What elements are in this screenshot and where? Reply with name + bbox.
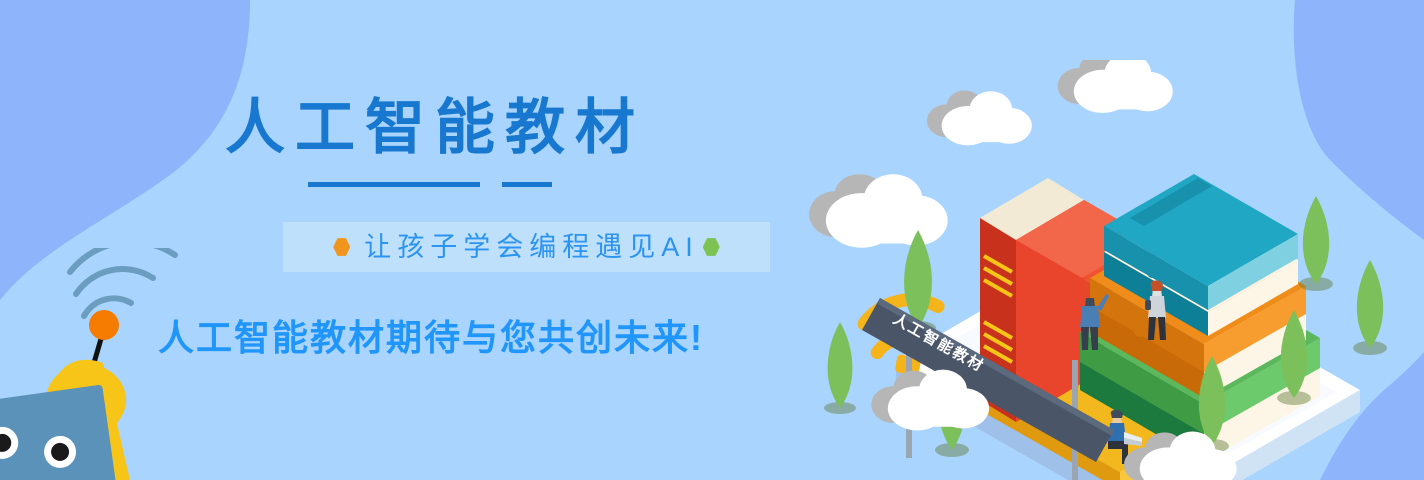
robot-antenna-ball-icon [89,310,119,340]
subtitle-band: 让孩子学会编程遇见AI [283,222,770,272]
subtitle-text: 让孩子学会编程遇见AI [358,234,699,261]
cloud-top-left-icon [809,174,948,248]
robot-mascot [0,248,190,480]
orange-book-dot [1132,311,1148,337]
divider-short-bar [502,182,552,187]
page-title: 人工智能教材 [0,98,860,158]
tree-right-lower [1353,260,1387,355]
tree-right-upper [1299,196,1333,291]
ai-textbook-banner: 人工智能教材 让孩子学会编程遇见AI 人工智能教材期待与您共创未来! [0,0,1424,480]
tree-left-lower [824,322,856,414]
cloud-top-right-icon [1058,60,1173,113]
isometric-illustration: 人工智能教材 [800,60,1424,480]
cloud-top-middle-icon [927,90,1032,145]
divider-long-bar [308,182,480,187]
cyan-book-dot [1145,254,1159,278]
hexagon-marker-left-icon [333,238,350,257]
title-divider [0,182,860,188]
robot-signal-waves-icon [70,248,175,316]
hexagon-marker-right-icon [703,238,720,257]
